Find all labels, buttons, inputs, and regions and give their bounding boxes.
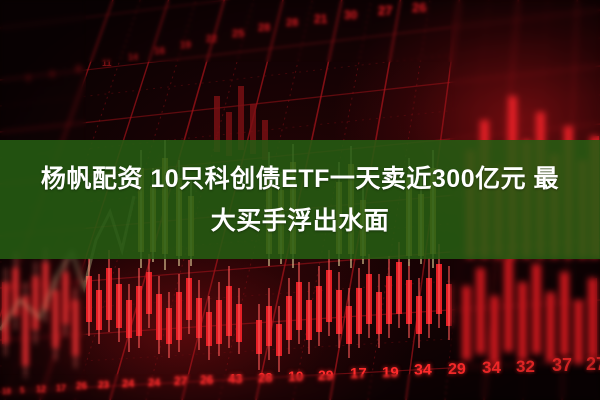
headline-line-1: 杨帆配资 10只科创债ETF一天卖近300亿元 最 [20,158,580,200]
headline-line-2: 大买手浮出水面 [20,200,580,242]
page-title: 杨帆配资 10只科创债ETF一天卖近300亿元 最 大买手浮出水面 [20,158,580,242]
depth-blur-bottom [0,374,600,400]
thumbnail-stage: 3 5 8 11 14 16 19 22 25 28 28 21 30 27 2… [0,0,600,400]
headline-band: 杨帆配资 10只科创债ETF一天卖近300亿元 最 大买手浮出水面 [0,140,600,259]
